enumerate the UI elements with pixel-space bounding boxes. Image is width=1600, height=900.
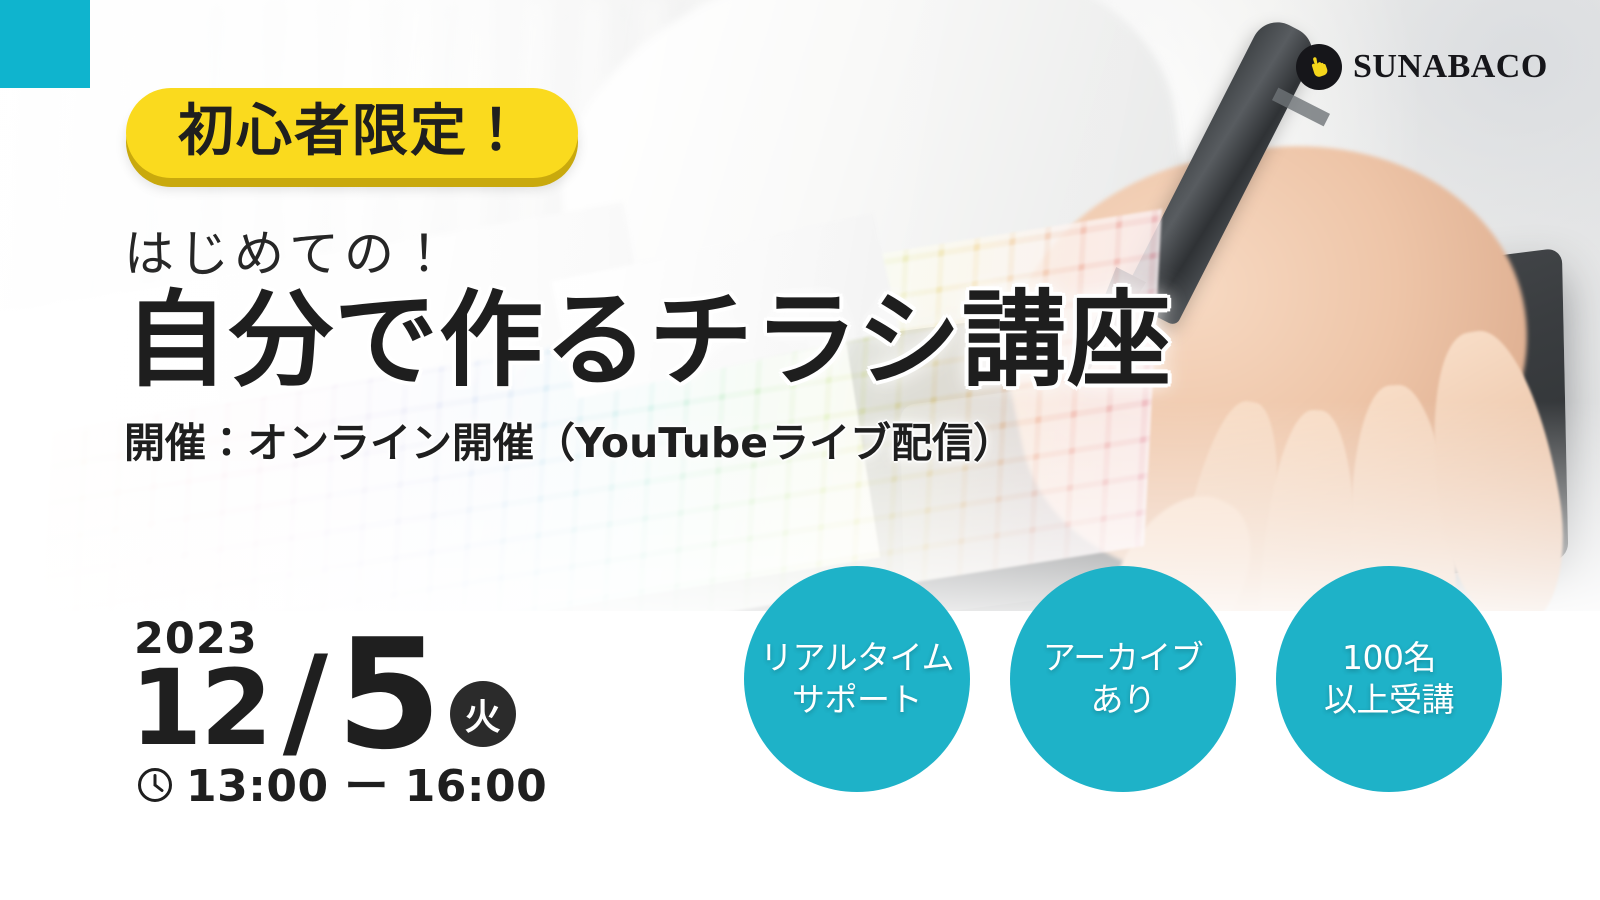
- sunabaco-logo[interactable]: SUNABACO: [1296, 44, 1548, 90]
- teal-accent-square: [0, 0, 90, 88]
- feature-label: 100名 以上受講: [1318, 637, 1460, 721]
- event-day: 5: [336, 636, 438, 755]
- event-month: 12: [130, 663, 271, 755]
- headline-kicker: はじめての！: [124, 228, 1172, 281]
- event-time-row: 13:00 ー 16:00: [136, 765, 547, 809]
- clock-icon: [136, 766, 174, 808]
- feature-circles: リアルタイム サポート アーカイブ あり 100名 以上受講: [744, 566, 1502, 792]
- day-of-week-badge: 火: [450, 681, 516, 747]
- pointing-hand-icon: [1296, 44, 1342, 90]
- feature-label: リアルタイム サポート: [754, 637, 960, 721]
- event-date-block: 2023 12 / 5 火 13:00 ー 16:00: [130, 618, 547, 809]
- headline-block: はじめての！ 自分で作るチラシ講座 開催：オンライン開催（YouTubeライブ配…: [124, 228, 1172, 466]
- date-separator: /: [283, 650, 328, 754]
- feature-circle-attendees[interactable]: 100名 以上受講: [1276, 566, 1502, 792]
- beginners-only-badge[interactable]: 初心者限定！: [126, 88, 578, 178]
- page-title: 自分で作るチラシ講座: [124, 287, 1172, 393]
- sunabaco-wordmark: SUNABACO: [1353, 50, 1548, 84]
- feature-circle-realtime-support[interactable]: リアルタイム サポート: [744, 566, 970, 792]
- feature-label: アーカイブ あり: [1037, 637, 1210, 721]
- headline-subtitle: 開催：オンライン開催（YouTubeライブ配信）: [124, 421, 1172, 466]
- event-time: 13:00 ー 16:00: [186, 765, 547, 809]
- feature-circle-archive[interactable]: アーカイブ あり: [1010, 566, 1236, 792]
- flyer-course-banner: SUNABACO 初心者限定！ はじめての！ 自分で作るチラシ講座 開催：オンラ…: [0, 0, 1600, 900]
- event-date-row: 2023 12 / 5 火: [130, 618, 547, 755]
- event-year-month: 2023 12: [130, 618, 271, 755]
- badge-label: 初心者限定！: [178, 104, 526, 160]
- badge-pill: 初心者限定！: [126, 88, 578, 178]
